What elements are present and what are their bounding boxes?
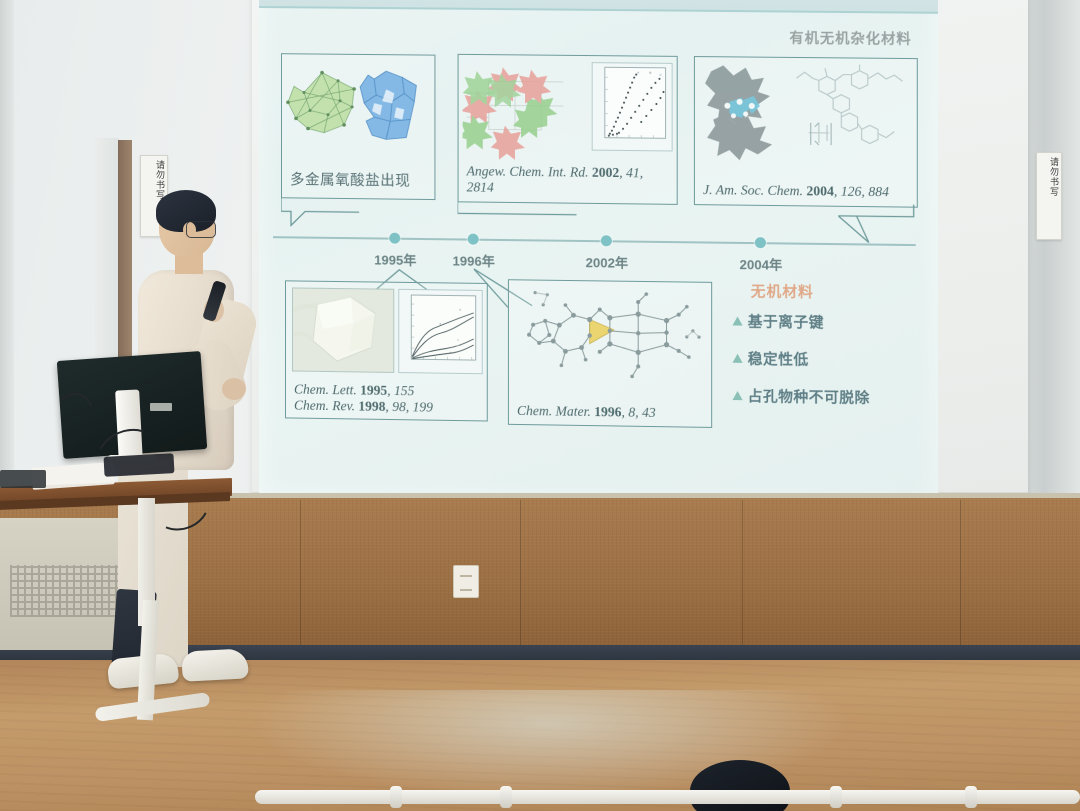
card-3-rest: 126, 884 bbox=[841, 184, 889, 200]
card-3-year: 2004 bbox=[806, 183, 833, 198]
card-angew-2002: ABC Angew. Chem. Int. Rd. 2002, 41, 2814 bbox=[458, 54, 678, 205]
wall-left-shadow bbox=[0, 0, 14, 470]
card-3-journal: J. Am. Soc. Chem. bbox=[703, 182, 803, 198]
cork-seam bbox=[742, 500, 743, 648]
cluster-structure-icon bbox=[699, 61, 786, 163]
crystal-photo-thumbnail bbox=[292, 287, 394, 373]
card-3-caption: J. Am. Soc. Chem. 2004, 126, 884 bbox=[703, 182, 911, 200]
projected-slide: 背景 有机无机杂化材料 bbox=[259, 0, 938, 509]
card-4-caption-line2: Chem. Rev. 1998, 98, 199 bbox=[294, 398, 481, 417]
rail-joint bbox=[390, 786, 402, 808]
scatter-plot-svg: ABC bbox=[593, 63, 672, 150]
card-4-rest-1: 155 bbox=[394, 383, 414, 398]
timeline-year-1995: 1995年 bbox=[374, 249, 416, 269]
inorganic-bullet-list: 基于离子键 稳定性低 占孔物种不可脱除 bbox=[732, 310, 936, 425]
card-5-caption: Chem. Mater. 1996, 8, 43 bbox=[517, 403, 705, 422]
card-1-caption: 多金属氧酸盐出现 bbox=[290, 172, 428, 191]
card-4-journal-2: Chem. Rev. bbox=[294, 398, 355, 414]
wall-power-outlet[interactable] bbox=[453, 565, 479, 598]
card-4-year-1: 1995 bbox=[360, 383, 387, 398]
card-1-pointer bbox=[281, 195, 361, 230]
card-4-year-2: 1998 bbox=[358, 399, 385, 414]
crystal-photo-svg bbox=[293, 288, 393, 371]
triangle-bullet-icon bbox=[732, 391, 742, 400]
card-5-rest: 43 bbox=[642, 405, 656, 420]
card-2-year: 2002 bbox=[592, 165, 619, 180]
bullet-item-1: 基于离子键 bbox=[732, 310, 936, 334]
card-jacs-2004: J. Am. Soc. Chem. 2004, 126, 884 bbox=[694, 56, 918, 208]
molecular-formula-icon bbox=[788, 64, 910, 158]
timeline-year-2004: 2004年 bbox=[740, 254, 783, 274]
timeline-dot-2004 bbox=[755, 237, 766, 248]
rail-joint bbox=[500, 786, 512, 808]
card-chemlett-1995: abcd Chem. Lett. 1995, 155 Chem. Rev. 19… bbox=[285, 280, 488, 421]
inorganic-materials-heading: 无机材料 bbox=[751, 280, 814, 302]
timeline-dot-1996 bbox=[468, 234, 479, 245]
card-4-rest-2: 199 bbox=[413, 399, 433, 414]
isotherm-plot-svg: abcd bbox=[399, 290, 481, 373]
card-2-pointer bbox=[458, 199, 579, 235]
card-5-journal: Chem. Mater. bbox=[517, 403, 591, 419]
monitor-label bbox=[150, 403, 172, 411]
card-5-vol: 8 bbox=[628, 405, 635, 420]
card-4-journal-1: Chem. Lett. bbox=[294, 382, 357, 398]
front-rail bbox=[255, 790, 1080, 804]
cork-seam bbox=[300, 500, 301, 648]
desk-equipment-secondary bbox=[0, 470, 46, 488]
glasses-icon bbox=[186, 221, 216, 238]
presenter-shoe-right bbox=[181, 648, 248, 681]
timeline-dot-2002 bbox=[601, 235, 612, 246]
polyoxometalate-cluster-icon bbox=[282, 58, 432, 160]
presenter-hand-gesture bbox=[222, 378, 246, 400]
triangle-bullet-icon bbox=[732, 316, 742, 325]
card-5-year: 1996 bbox=[594, 404, 621, 419]
rail-joint bbox=[830, 786, 842, 808]
card-2-caption: Angew. Chem. Int. Rd. 2002, 41, 2814 bbox=[467, 163, 671, 197]
wall-right-pillar bbox=[1020, 0, 1080, 505]
timeline-axis bbox=[273, 236, 916, 246]
card-chemmater-1996: Chem. Mater. 1996, 8, 43 bbox=[508, 279, 712, 428]
card-3-pointer bbox=[838, 204, 916, 245]
slide-body: 有机无机杂化材料 bbox=[259, 8, 938, 489]
bullet-item-3: 占孔物种不可脱除 bbox=[732, 385, 936, 409]
card-polyoxometalate: 多金属氧酸盐出现 bbox=[281, 53, 435, 200]
timeline-dot-1995 bbox=[389, 233, 400, 244]
cork-seam bbox=[520, 500, 521, 648]
bullet-label-3: 占孔物种不可脱除 bbox=[748, 385, 870, 408]
triangle-bullet-icon bbox=[732, 354, 742, 363]
card-2-journal: Angew. Chem. Int. Rd. bbox=[467, 163, 589, 179]
honeycomb-lattice-icon bbox=[463, 59, 590, 161]
framework-structure-icon bbox=[513, 284, 707, 399]
bullet-label-2: 稳定性低 bbox=[748, 348, 809, 370]
bullet-label-1: 基于离子键 bbox=[748, 311, 824, 333]
isotherm-plot-thumbnail: abcd bbox=[398, 289, 482, 374]
wall-sign-right: 请勿书写 bbox=[1036, 152, 1062, 240]
scatter-plot-thumbnail: ABC bbox=[592, 62, 673, 151]
cork-seam bbox=[960, 500, 961, 648]
radiator-grill bbox=[10, 565, 128, 617]
hybrid-materials-label: 有机无机杂化材料 bbox=[789, 28, 911, 49]
card-4-vol-2: 98 bbox=[392, 399, 406, 414]
card-4-caption: Chem. Lett. 1995, 155 Chem. Rev. 1998, 9… bbox=[294, 382, 481, 417]
svg-text:A: A bbox=[637, 71, 639, 75]
lecture-hall-scene: 请勿书写 请勿书写 背景 有机无机杂化材料 bbox=[0, 0, 1080, 811]
svg-text:B: B bbox=[649, 71, 651, 75]
bullet-item-2: 稳定性低 bbox=[732, 348, 936, 372]
rail-joint bbox=[965, 786, 977, 808]
